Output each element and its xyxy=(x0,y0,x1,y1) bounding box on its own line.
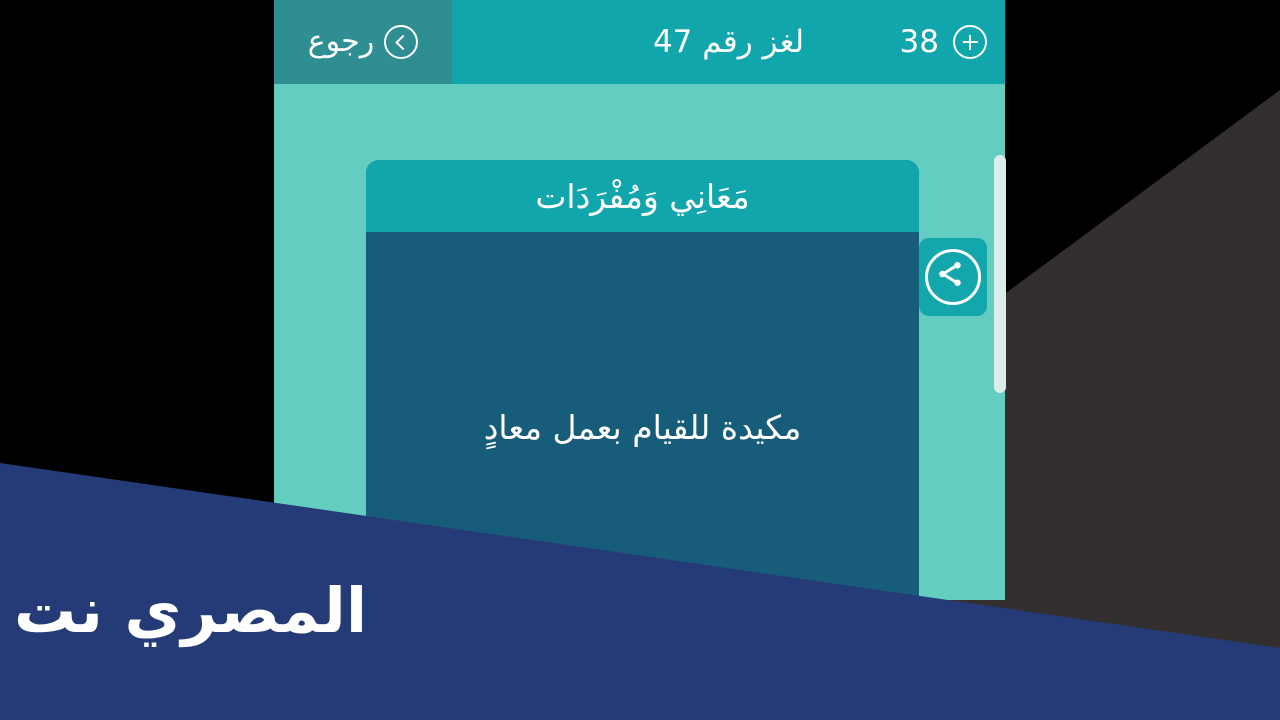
puzzle-clue-text: مكيدة للقيام بعمل معادٍ xyxy=(458,403,828,453)
coin-count-label: 38 xyxy=(900,27,939,58)
share-icon xyxy=(925,249,981,305)
phone-screen: رجوع لغز رقم 47 38 مَعَانِي وَمُفْرَدَات… xyxy=(274,0,1005,600)
chevron-left-glyph xyxy=(395,34,411,50)
chevron-left-circle-icon xyxy=(384,25,418,59)
vertical-scrollbar-thumb[interactable] xyxy=(994,155,1006,393)
plus-circle-icon[interactable] xyxy=(953,25,987,59)
screenshot-root: رجوع لغز رقم 47 38 مَعَانِي وَمُفْرَدَات… xyxy=(0,0,1280,720)
back-button[interactable]: رجوع xyxy=(274,0,452,84)
share-button[interactable] xyxy=(919,238,987,316)
coin-balance-group[interactable]: 38 xyxy=(900,0,987,84)
plus-vertical-bar xyxy=(969,35,972,50)
card-header: مَعَانِي وَمُفْرَدَات xyxy=(366,160,919,232)
watermark-text: المصري نت xyxy=(14,580,367,642)
back-button-label: رجوع xyxy=(308,27,374,57)
card-title: مَعَانِي وَمُفْرَدَات xyxy=(535,177,749,216)
app-header-bar: رجوع لغز رقم 47 38 xyxy=(274,0,1005,84)
